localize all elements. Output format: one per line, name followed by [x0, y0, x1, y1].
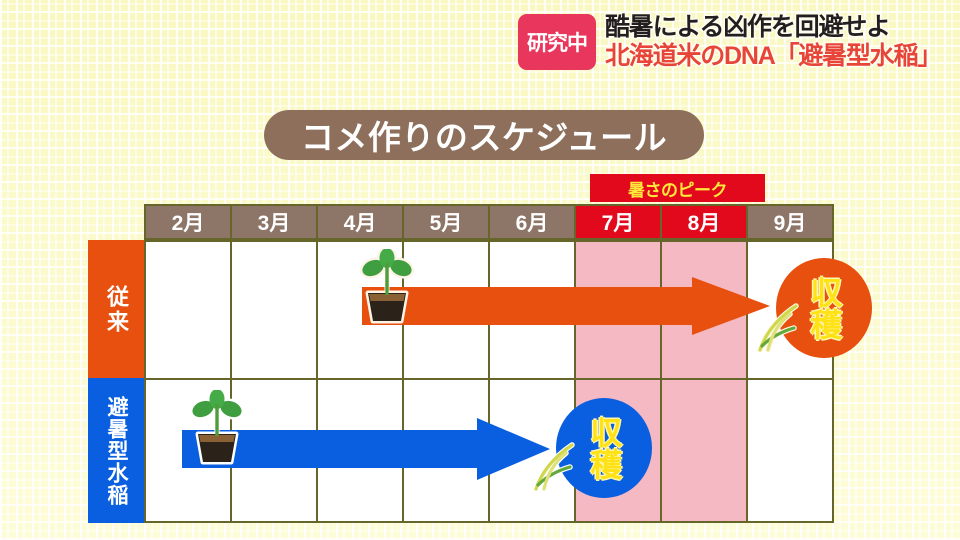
month-header-cell: 2月 — [144, 204, 232, 240]
headline-line-2: 北海道米のDNA「避暑型水稲」 — [605, 43, 941, 70]
page-title: コメ作りのスケジュール — [264, 110, 704, 160]
row-label-conventional: 従来 — [88, 240, 144, 380]
table-cell — [488, 240, 576, 380]
month-header-cell: 6月 — [488, 204, 576, 240]
month-header-row: 2月 3月 4月 5月 6月 7月 8月 9月 — [144, 204, 878, 240]
header-banner: 研究中 酷暑による凶作を回避せよ 北海道米のDNA「避暑型水稲」 — [518, 14, 941, 70]
table-cell — [144, 240, 232, 380]
table-cell — [230, 378, 318, 523]
table-cell — [230, 240, 318, 380]
month-header-cell: 9月 — [746, 204, 834, 240]
heat-peak-label-text: 暑さのピーク — [628, 176, 727, 201]
row-cells-avoidheat — [144, 378, 878, 523]
table-cell-hot — [574, 240, 662, 380]
harvest-badge-label: 収穫 — [589, 416, 620, 480]
headline-line-1: 酷暑による凶作を回避せよ — [605, 14, 941, 41]
month-header-cell: 5月 — [402, 204, 490, 240]
row-label-avoidheat: 避暑型水稲 — [88, 378, 144, 523]
harvest-badge-label: 収穫 — [809, 276, 840, 340]
month-header-cell-hot: 8月 — [660, 204, 748, 240]
table-cell — [402, 240, 490, 380]
table-row-avoidheat: 避暑型水稲 — [88, 378, 878, 523]
rice-sprig-icon — [528, 437, 582, 493]
header-text-block: 酷暑による凶作を回避せよ 北海道米のDNA「避暑型水稲」 — [605, 14, 941, 70]
table-cell — [316, 240, 404, 380]
month-header-cell: 4月 — [316, 204, 404, 240]
month-header-cell: 3月 — [230, 204, 318, 240]
table-cell — [402, 378, 490, 523]
heat-peak-label: 暑さのピーク — [590, 174, 765, 202]
page-title-label: コメ作りのスケジュール — [301, 111, 667, 159]
table-cell — [746, 378, 834, 523]
table-cell-hot — [660, 378, 748, 523]
table-cell-hot — [660, 240, 748, 380]
month-header-cell-hot: 7月 — [574, 204, 662, 240]
schedule-table: 2月 3月 4月 5月 6月 7月 8月 9月 従来 避暑型水稲 — [88, 204, 878, 523]
table-cell — [316, 378, 404, 523]
table-cell — [144, 378, 232, 523]
research-status-badge: 研究中 — [518, 14, 596, 70]
rice-sprig-icon — [752, 298, 806, 354]
